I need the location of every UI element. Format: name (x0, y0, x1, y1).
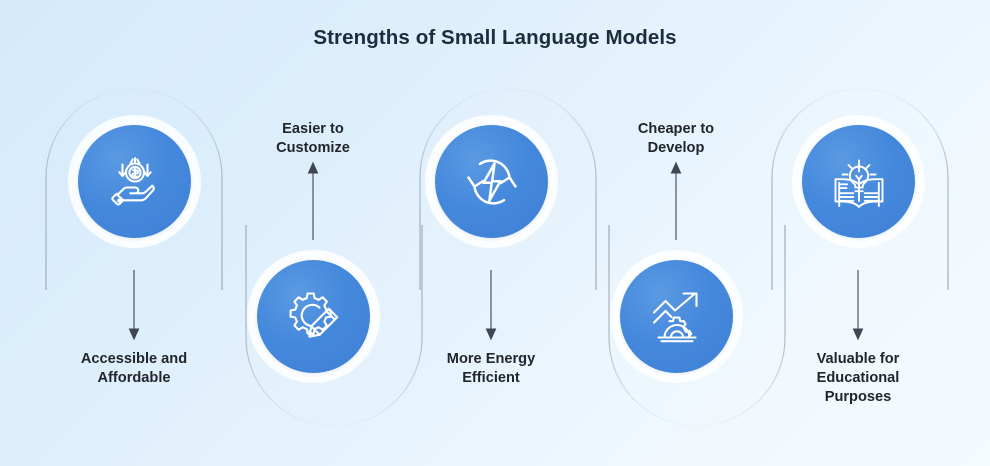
energy-cycle-icon[interactable] (435, 125, 548, 238)
arrow-head-3 (487, 329, 496, 339)
arrow-head-1 (130, 329, 139, 339)
strength-label-5: Valuable for Educational Purposes (778, 350, 938, 407)
arrow-head-2 (309, 163, 318, 173)
infographic-canvas: Strengths of Small Language Models (0, 0, 990, 466)
strength-label-2: Easier to Customize (213, 120, 413, 158)
arrow-head-4 (672, 163, 681, 173)
strength-label-3: More Energy Efficient (391, 350, 591, 388)
book-lightbulb-icon[interactable] (802, 125, 915, 238)
growth-gear-icon[interactable] (620, 260, 733, 373)
strength-label-1: Accessible and Affordable (34, 350, 234, 388)
gear-pencil-icon[interactable] (257, 260, 370, 373)
strength-label-4: Cheaper to Develop (576, 120, 776, 158)
hand-holding-coin-icon[interactable] (78, 125, 191, 238)
arrow-head-5 (854, 329, 863, 339)
